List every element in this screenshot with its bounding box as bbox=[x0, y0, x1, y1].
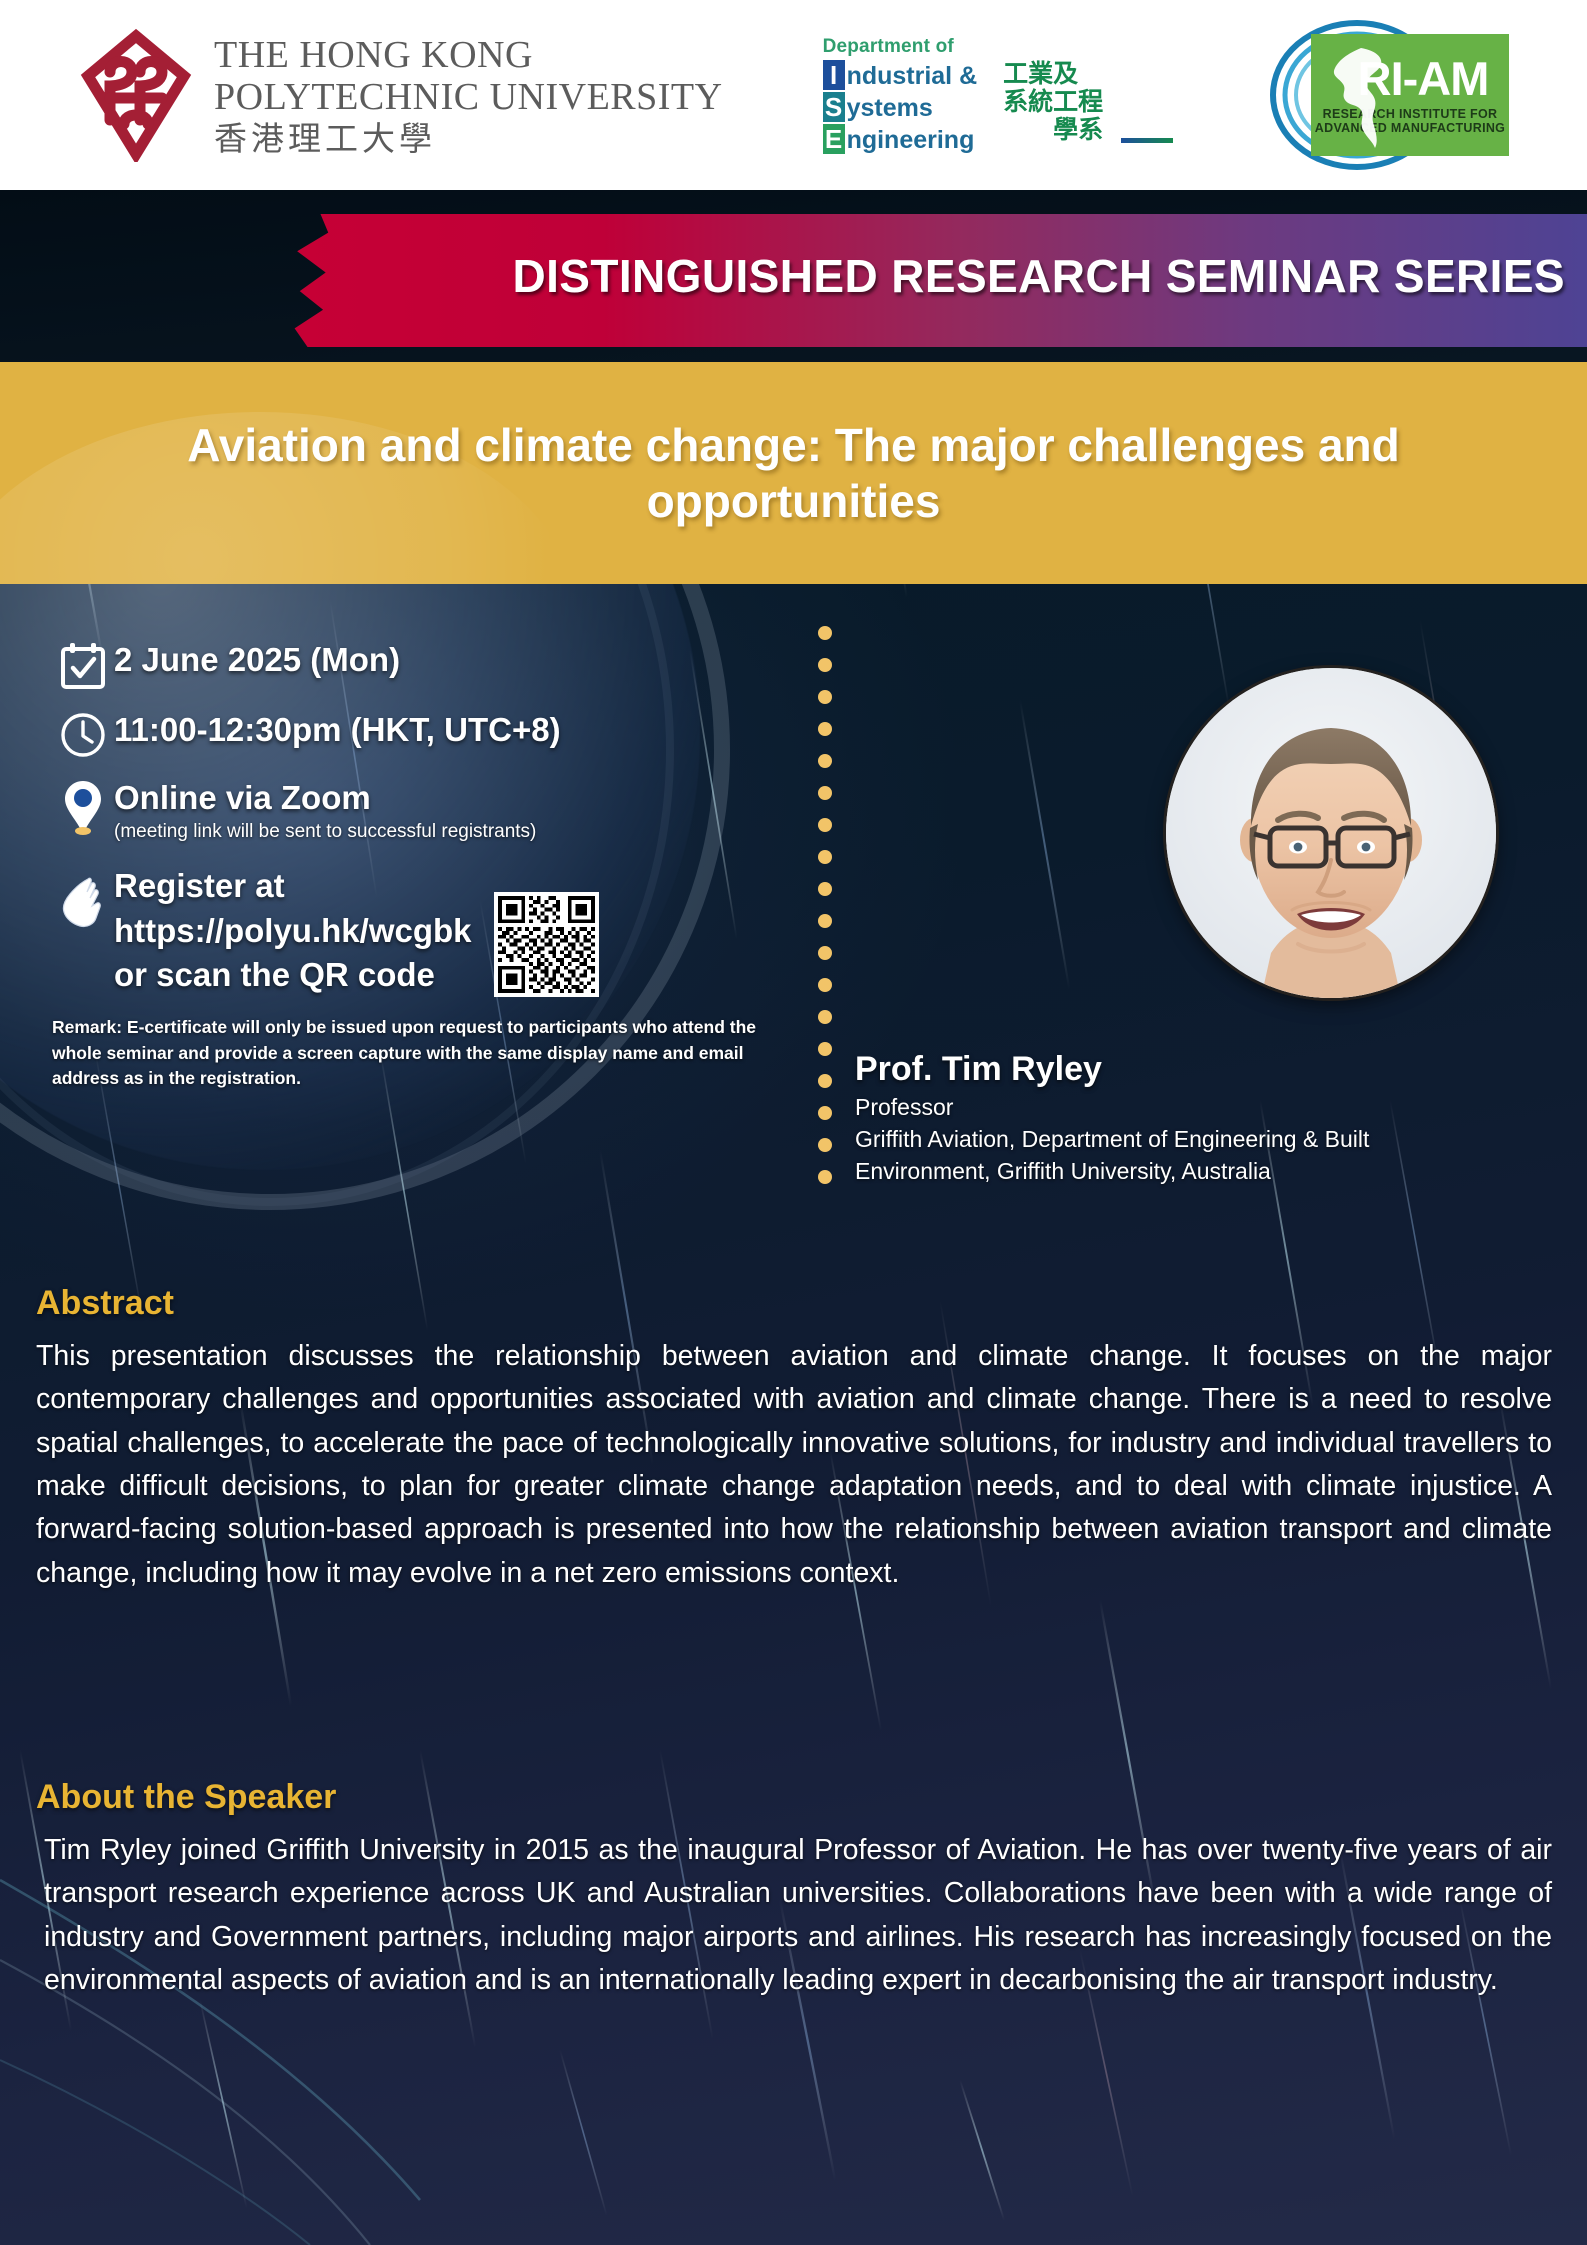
ise-chinese-line1: 工業及 bbox=[1003, 60, 1103, 88]
ise-cap-e: E bbox=[823, 124, 845, 154]
speaker-name: Prof. Tim Ryley bbox=[855, 1050, 1475, 1089]
divider-dot bbox=[818, 1170, 832, 1184]
abstract-section: Abstract This presentation discusses the… bbox=[36, 1284, 1552, 1595]
event-details-panel: 2 June 2025 (Mon) 11:00-12:30pm (HKT, UT… bbox=[52, 640, 792, 1091]
polyu-wordmark: THE HONG KONG POLYTECHNIC UNIVERSITY 香港理… bbox=[214, 36, 723, 155]
divider-dot bbox=[818, 818, 832, 832]
speaker-affiliation-line2: Environment, Griffith University, Austra… bbox=[855, 1157, 1475, 1186]
header-logo-bar: THE HONG KONG POLYTECHNIC UNIVERSITY 香港理… bbox=[0, 0, 1587, 190]
ise-cap-i: I bbox=[823, 60, 845, 90]
polyu-name-chinese: 香港理工大學 bbox=[214, 122, 723, 155]
registration-body: Register at https://polyu.hk/wcgbk or sc… bbox=[114, 864, 792, 997]
ise-english-column: I ndustrial & S ystems E ngineering bbox=[823, 60, 978, 155]
abstract-body: This presentation discusses the relation… bbox=[36, 1335, 1552, 1595]
event-venue: Online via Zoom bbox=[114, 778, 792, 818]
register-url[interactable]: https://polyu.hk/wcgbk bbox=[114, 909, 472, 953]
registration-remark: Remark: E-certificate will only be issue… bbox=[52, 1015, 758, 1091]
ise-chinese-line3: 學系 bbox=[1003, 116, 1103, 144]
divider-dot bbox=[818, 754, 832, 768]
divider-dot bbox=[818, 978, 832, 992]
ise-line-engineering: E ngineering bbox=[823, 124, 978, 155]
seminar-title-band: Aviation and climate change: The major c… bbox=[0, 362, 1587, 584]
ise-divider-dash bbox=[1121, 138, 1173, 143]
ise-chinese-line2: 系統工程 bbox=[1003, 88, 1103, 116]
clock-icon bbox=[52, 710, 114, 758]
banner-title: DISTINGUISHED RESEARCH SEMINAR SERIES bbox=[0, 190, 1587, 362]
ise-department-label: Department of bbox=[823, 36, 1104, 58]
divider-dot bbox=[818, 1074, 832, 1088]
divider-dot bbox=[818, 882, 832, 896]
seminar-title: Aviation and climate change: The major c… bbox=[99, 417, 1489, 529]
dotted-divider bbox=[818, 626, 834, 1206]
polyu-name-line1: THE HONG KONG bbox=[214, 36, 723, 74]
registration-text[interactable]: Register at https://polyu.hk/wcgbk or sc… bbox=[114, 864, 472, 997]
divider-dot bbox=[818, 1106, 832, 1120]
location-pin-icon bbox=[52, 778, 114, 836]
ise-word-engineering: ngineering bbox=[847, 126, 975, 155]
divider-dot bbox=[818, 690, 832, 704]
about-speaker-section: About the Speaker Tim Ryley joined Griff… bbox=[36, 1778, 1552, 2002]
seminar-poster: THE HONG KONG POLYTECHNIC UNIVERSITY 香港理… bbox=[0, 0, 1587, 2245]
polyu-emblem-icon bbox=[80, 28, 192, 162]
seminar-series-banner: DISTINGUISHED RESEARCH SEMINAR SERIES bbox=[0, 190, 1587, 362]
divider-dot bbox=[818, 1138, 832, 1152]
pointing-hand-icon bbox=[52, 864, 114, 932]
ise-department-logo: Department of I ndustrial & S ystems E n… bbox=[823, 36, 1104, 155]
divider-dot bbox=[818, 914, 832, 928]
calendar-icon bbox=[52, 640, 114, 690]
speaker-title: Professor bbox=[855, 1093, 1475, 1122]
divider-dot bbox=[818, 1042, 832, 1056]
divider-dot bbox=[818, 1010, 832, 1024]
detail-body-date: 2 June 2025 (Mon) bbox=[114, 640, 792, 680]
ise-word-industrial: ndustrial & bbox=[847, 62, 978, 91]
about-speaker-heading: About the Speaker bbox=[36, 1778, 1552, 1817]
speaker-info: Prof. Tim Ryley Professor Griffith Aviat… bbox=[855, 1050, 1475, 1187]
polyu-name-line2: POLYTECHNIC UNIVERSITY bbox=[214, 78, 723, 116]
event-date: 2 June 2025 (Mon) bbox=[114, 640, 792, 680]
polyu-logo: THE HONG KONG POLYTECHNIC UNIVERSITY 香港理… bbox=[80, 28, 723, 162]
divider-dot bbox=[818, 850, 832, 864]
riam-logo: RI-AM RESEARCH INSTITUTE FOR ADVANCED MA… bbox=[1257, 20, 1509, 170]
event-time: 11:00-12:30pm (HKT, UTC+8) bbox=[114, 710, 792, 750]
ise-cap-s: S bbox=[823, 92, 845, 122]
ise-line-systems: S ystems bbox=[823, 92, 978, 123]
divider-dot bbox=[818, 722, 832, 736]
event-venue-note: (meeting link will be sent to successful… bbox=[114, 820, 792, 845]
riam-americas-globe-icon bbox=[1317, 42, 1403, 150]
detail-row-time: 11:00-12:30pm (HKT, UTC+8) bbox=[52, 710, 792, 758]
divider-dot bbox=[818, 946, 832, 960]
ise-chinese-column: 工業及 系統工程 學系 bbox=[1003, 60, 1103, 155]
qr-code[interactable] bbox=[494, 892, 599, 997]
detail-row-date: 2 June 2025 (Mon) bbox=[52, 640, 792, 690]
register-line-1: Register at bbox=[114, 864, 472, 908]
divider-dot bbox=[818, 626, 832, 640]
abstract-heading: Abstract bbox=[36, 1284, 1552, 1323]
speaker-photo bbox=[1166, 668, 1496, 998]
detail-body-venue: Online via Zoom (meeting link will be se… bbox=[114, 778, 792, 844]
ise-logo-rows: I ndustrial & S ystems E ngineering 工業及 … bbox=[823, 60, 1104, 155]
register-line-3: or scan the QR code bbox=[114, 953, 472, 997]
divider-dot bbox=[818, 658, 832, 672]
detail-row-venue: Online via Zoom (meeting link will be se… bbox=[52, 778, 792, 844]
divider-dot bbox=[818, 786, 832, 800]
ise-word-systems: ystems bbox=[847, 94, 933, 123]
speaker-affiliation-line1: Griffith Aviation, Department of Enginee… bbox=[855, 1125, 1475, 1154]
ise-line-industrial: I ndustrial & bbox=[823, 60, 978, 91]
registration-block[interactable]: Register at https://polyu.hk/wcgbk or sc… bbox=[52, 864, 792, 997]
detail-body-time: 11:00-12:30pm (HKT, UTC+8) bbox=[114, 710, 792, 750]
about-speaker-body: Tim Ryley joined Griffith University in … bbox=[36, 1829, 1552, 2002]
